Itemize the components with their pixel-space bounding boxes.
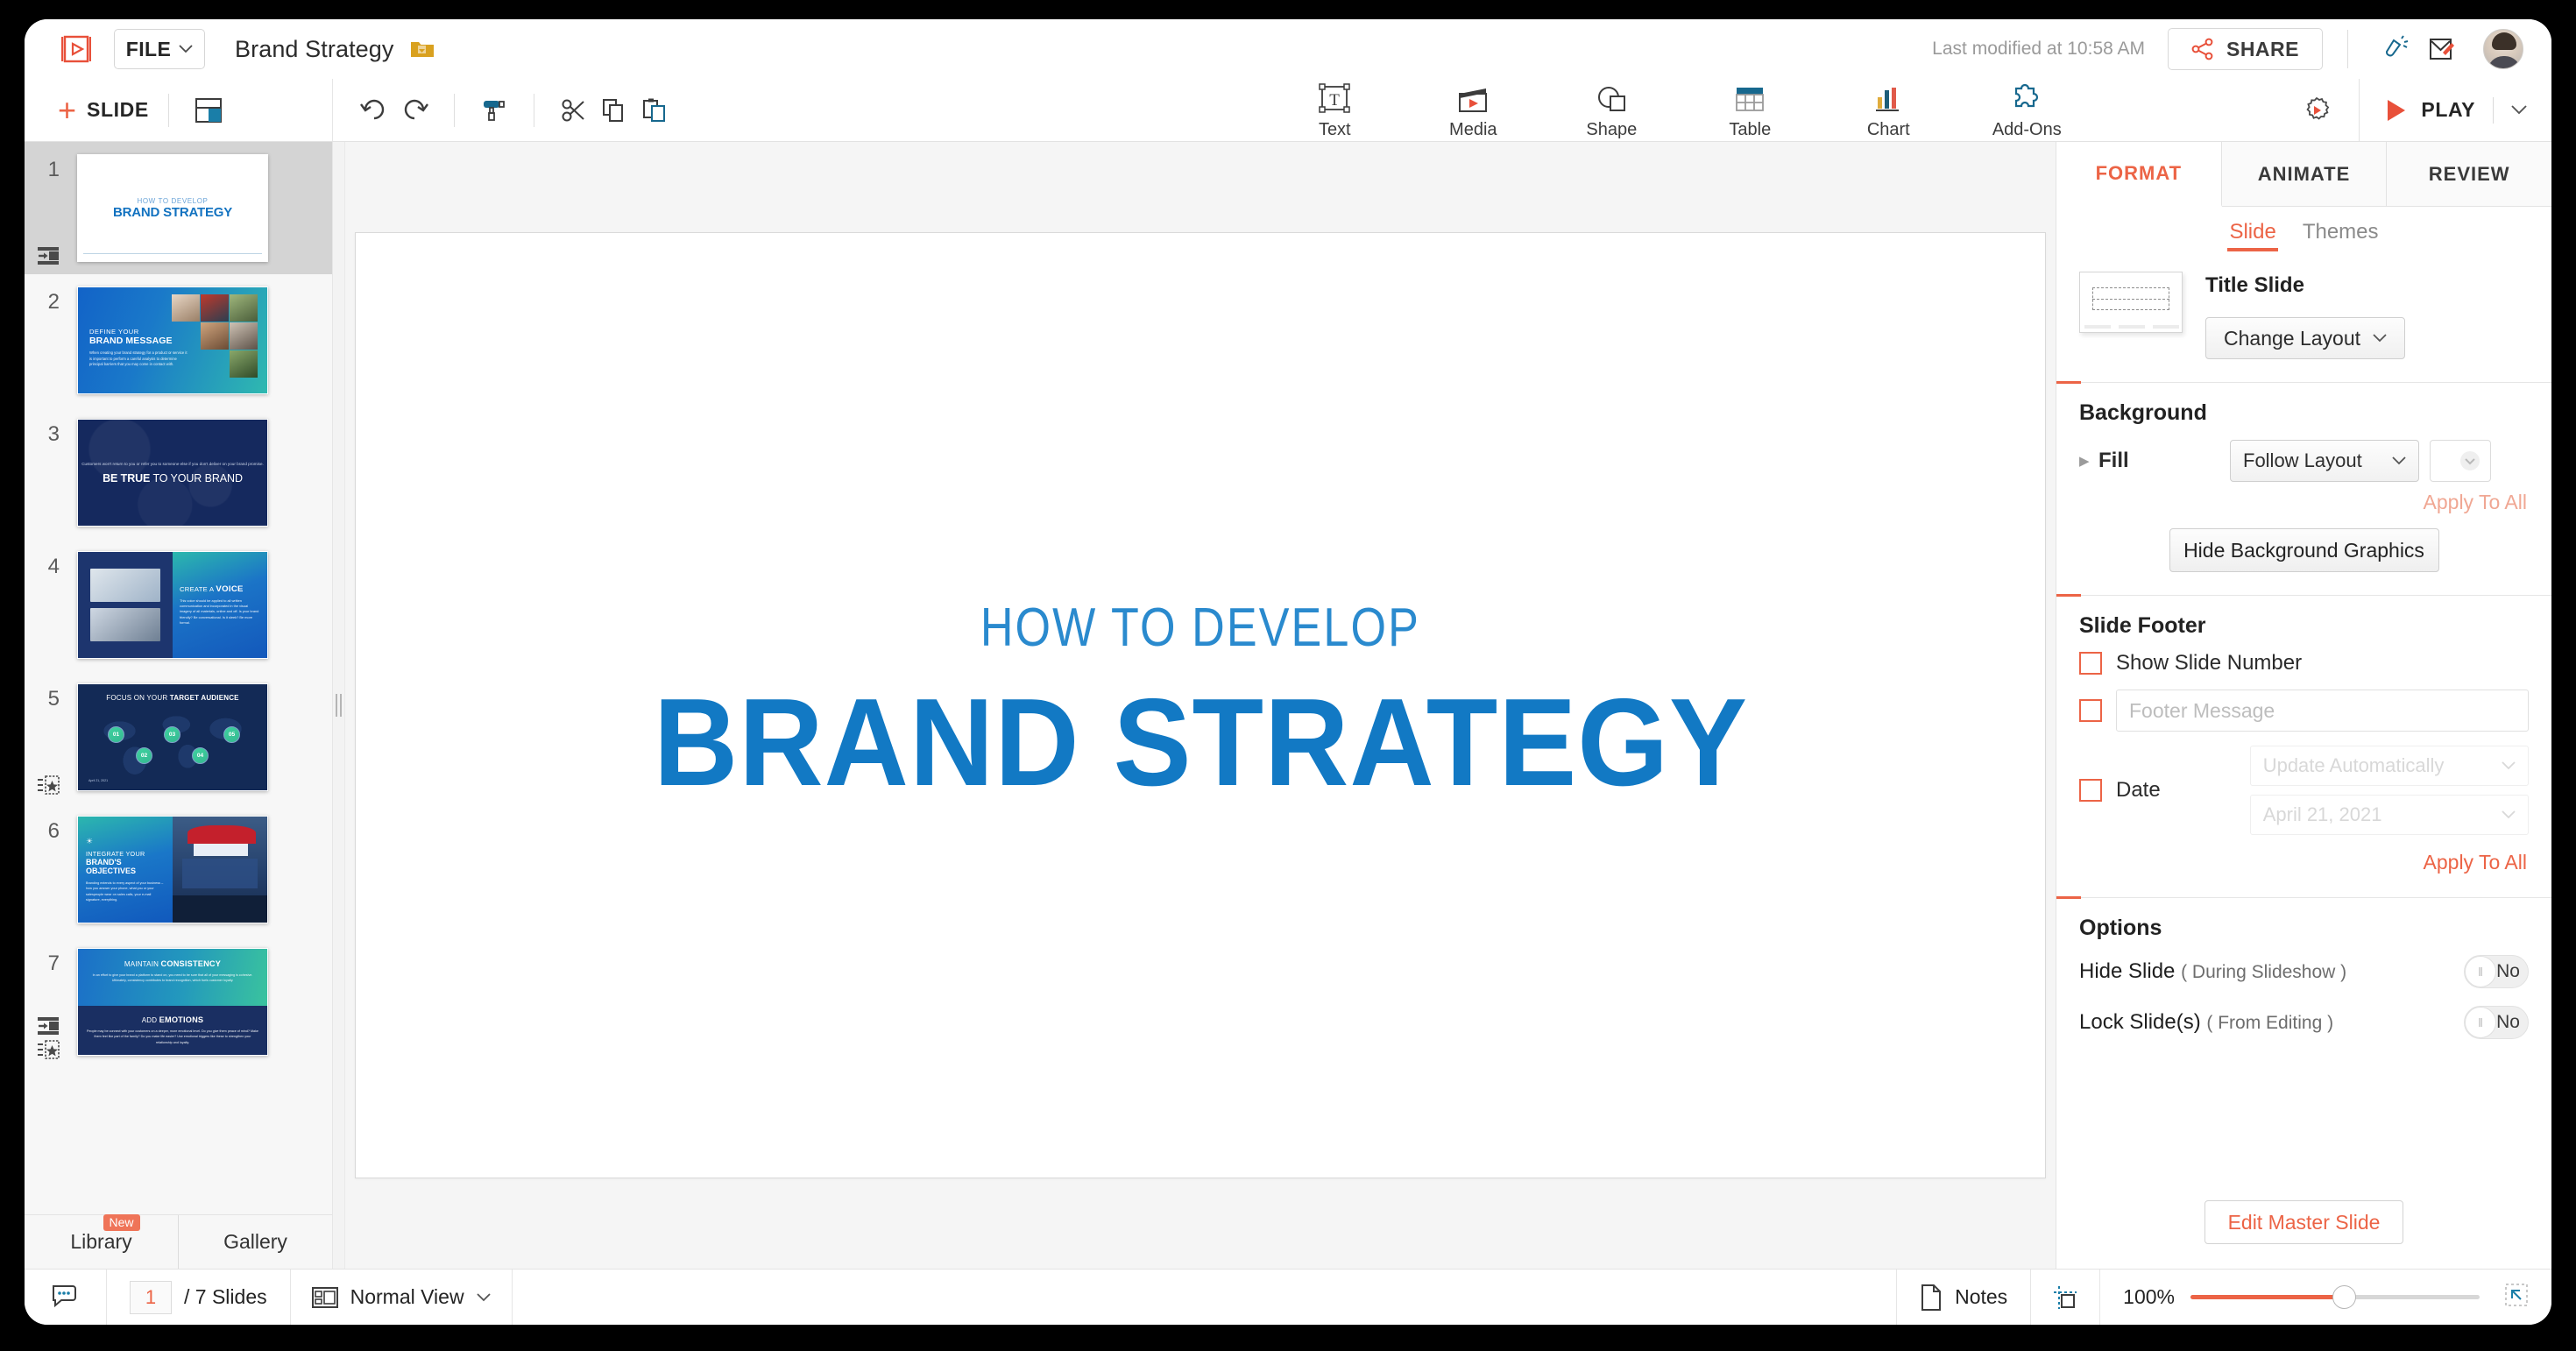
chevron-down-icon [2373,334,2387,343]
background-section-title: Background [2056,383,2551,431]
slide-number: 1 [25,154,65,182]
slide-thumbnail-6[interactable]: 6 ☀ INTEGRATE YOUR BRAND'S OBJECTIVES Br… [25,803,332,936]
toolbar-left-group: + SLIDE [25,79,333,141]
toolbar-divider-2 [454,94,455,127]
chevron-down-icon [2502,761,2516,770]
library-gallery-tabs: Library New Gallery [25,1214,332,1269]
preview-bottom-section: ADD EMOTIONS People may be connect with … [78,1006,267,1055]
slide-number: 2 [25,286,65,315]
slide-thumbnail-2[interactable]: 2 DEFINE YOUR BRAND MESSAGE [25,274,332,407]
preview-text: DEFINE YOUR BRAND MESSAGE When creating … [89,328,188,368]
preview-eyebrow: INTEGRATE YOUR [86,850,165,858]
tool-shape[interactable]: Shape [1569,81,1653,140]
chevron-down-icon [2392,456,2406,465]
footer-apply-to-all[interactable]: Apply To All [2056,842,2551,874]
tool-media[interactable]: Media [1431,81,1515,140]
text-box-icon: T [1318,81,1351,116]
scissors-icon[interactable] [554,90,594,131]
library-label: Library [70,1230,131,1254]
slide-thumbnail-4[interactable]: 4 CREATE A VOICE This voice should be ap… [25,539,332,671]
tab-format[interactable]: FORMAT [2056,142,2222,207]
zoom-control: 100% [2100,1270,2551,1325]
format-panel: FORMAT ANIMATE REVIEW Slide Themes [2056,142,2551,1269]
preview-title: BRAND'S OBJECTIVES [86,858,165,875]
slide-preview[interactable]: CREATE A VOICE This voice should be appl… [77,551,268,659]
presentation-logo-icon[interactable] [58,32,95,67]
expand-caret-icon[interactable]: ▶ [2079,453,2098,469]
library-tab[interactable]: Library New [25,1215,178,1269]
document-title[interactable]: Brand Strategy [235,36,394,63]
layout-name: Title Slide [2205,273,2405,298]
panel-subtabs: Slide Themes [2056,207,2551,263]
preview-body: Branding extends to every aspect of your… [86,881,165,902]
panel-content: Slide Themes Title Slide Change Layout [2056,207,2551,1269]
toggle-knob: ‖ [2465,1007,2496,1038]
toolbar-mid-group [333,79,1086,141]
slide-preview[interactable]: FOCUS ON YOUR TARGET AUDIENCE 01 02 03 0… [77,683,268,791]
comments-button[interactable] [25,1270,107,1325]
add-slide-button[interactable]: + SLIDE [58,95,149,126]
section-divider-2 [2056,595,2551,596]
chevron-down-icon [2502,810,2516,819]
lock-slide-row: Lock Slide(s) ( From Editing ) ‖ No [2056,997,2551,1048]
svg-text:T: T [1329,91,1340,110]
gallery-label: Gallery [223,1230,287,1254]
slide-thumbnails-list[interactable]: 1 HOW TO DEVELOP BRAND STRATEGY 2 [25,142,332,1214]
date-value: April 21, 2021 [2263,803,2382,826]
clapperboard-icon [1456,81,1490,116]
comment-icon [51,1284,81,1312]
preview-body: When creating your brand strategy for a … [89,350,188,368]
slide-title[interactable]: BRAND STRATEGY [653,671,1747,815]
preview-photos [78,552,173,658]
toolbar-divider-3 [534,94,534,127]
slide-preview[interactable]: MAINTAIN CONSISTENCY In an effort to giv… [77,948,268,1056]
slide-preview[interactable]: DEFINE YOUR BRAND MESSAGE When creating … [77,286,268,394]
add-slide-label: SLIDE [87,98,149,122]
zoom-value: 100% [2123,1285,2175,1309]
slide-number: 4 [25,551,65,579]
preview-top-section: MAINTAIN CONSISTENCY In an effort to giv… [78,949,267,1006]
chevron-down-icon [179,45,193,53]
preview-eyebrow: DEFINE YOUR [89,328,188,336]
tab-review[interactable]: REVIEW [2387,142,2551,206]
preview-title: FOCUS ON YOUR TARGET AUDIENCE [78,694,267,702]
preview-bottom-title: ADD EMOTIONS [86,1015,259,1024]
tool-media-label: Media [1449,120,1497,140]
notes-label: Notes [1955,1285,2007,1309]
play-button[interactable]: PLAY [2359,79,2551,141]
footer-message-checkbox[interactable] [2079,699,2102,722]
fill-label: Fill [2098,449,2230,473]
hide-slide-row: Hide Slide ( During Slideshow ) ‖ No [2056,946,2551,997]
panel-tabs: FORMAT ANIMATE REVIEW [2056,142,2551,207]
file-menu-label: FILE [126,38,171,61]
hide-slide-toggle[interactable]: ‖ No [2464,955,2529,988]
fill-row: ▶ Fill Follow Layout [2056,431,2551,482]
subtab-themes[interactable]: Themes [2303,220,2379,250]
main-toolbar: + SLIDE [25,79,2551,142]
undo-icon[interactable] [354,90,394,131]
shapes-icon [1595,81,1628,116]
panel-footer: Edit Master Slide [2056,1188,2551,1260]
page-indicator: 1 / 7 Slides [107,1270,291,1325]
lock-slide-label: Lock Slide(s) ( From Editing ) [2079,1010,2464,1035]
notes-page-icon [1920,1284,1943,1311]
show-slide-number-row: Show Slide Number [2056,644,2551,683]
preview-body: This voice should be applied to all writ… [180,598,260,626]
current-page-input[interactable]: 1 [130,1281,172,1314]
slide-preview[interactable]: Customers won't return to you or refer y… [77,419,268,527]
tool-addons[interactable]: Add-Ons [1985,81,2069,140]
lightbulb-icon: ☀ [86,837,165,846]
format-painter-icon[interactable] [474,90,514,131]
color-dropdown-icon [2459,449,2481,472]
layout-info: Title Slide Change Layout [2205,272,2405,359]
panel-splitter[interactable] [333,142,345,1269]
folder-move-icon[interactable] [410,37,435,61]
tool-text-label: Text [1319,120,1351,140]
zoom-slider-fill [2190,1295,2346,1299]
slide-number: 3 [25,419,65,447]
file-menu-button[interactable]: FILE [114,29,205,69]
notes-button[interactable]: Notes [1897,1270,2031,1325]
play-icon [2386,99,2407,122]
view-mode-selector[interactable]: Normal View [291,1270,513,1325]
footer-message-row: Footer Message [2056,683,2551,739]
change-layout-label: Change Layout [2224,327,2360,350]
slide-preview[interactable]: ☀ INTEGRATE YOUR BRAND'S OBJECTIVES Bran… [77,816,268,923]
tool-text[interactable]: T Text [1292,81,1376,140]
preview-text: ☀ INTEGRATE YOUR BRAND'S OBJECTIVES Bran… [78,817,173,923]
slide-subtitle[interactable]: HOW TO DEVELOP [980,597,1420,659]
hide-slide-note: ( During Slideshow ) [2181,962,2346,982]
show-slide-number-label: Show Slide Number [2116,651,2302,675]
gallery-tab[interactable]: Gallery [178,1215,332,1269]
new-badge: New [103,1214,140,1231]
layout-section: Title Slide Change Layout [2056,263,2551,359]
redo-icon[interactable] [394,90,435,131]
fit-to-screen-icon[interactable] [2504,1283,2529,1312]
fill-select[interactable]: Follow Layout [2230,440,2419,482]
slide-thumbnail-5[interactable]: 5 FOCUS ON YOUR TARGET AUDIENCE 01 02 03… [25,671,332,803]
subtab-slide[interactable]: Slide [2229,220,2275,250]
gear-play-icon[interactable] [2275,95,2359,125]
status-spacer [513,1270,1898,1325]
preview-step-05: 05 [223,726,240,743]
preview-rule [83,253,262,254]
puzzle-piece-icon [2010,81,2043,116]
preview-date: April 21, 2021 [88,779,108,782]
zoom-slider-handle[interactable] [2332,1285,2356,1309]
copy-icon[interactable] [594,90,634,131]
table-icon [1733,81,1766,116]
active-slide[interactable]: HOW TO DEVELOP BRAND STRATEGY [355,232,2046,1178]
lock-slide-value: No [2496,1012,2520,1033]
slide-canvas-area[interactable]: HOW TO DEVELOP BRAND STRATEGY [345,142,2056,1269]
preview-lead: Customers won't return to you or refer y… [81,461,264,467]
options-section-title: Options [2056,898,2551,946]
play-divider [2493,97,2494,124]
hide-slide-value: No [2496,961,2520,982]
layout-preview[interactable] [2079,272,2183,333]
footer-message-input[interactable]: Footer Message [2116,690,2529,732]
animation-icon[interactable] [37,1040,60,1059]
total-pages-label: / 7 Slides [184,1285,267,1309]
tool-addons-label: Add-Ons [1992,120,2062,140]
date-label: Date [2116,778,2161,803]
hide-background-graphics-button[interactable]: Hide Background Graphics [2169,528,2439,572]
fill-value: Follow Layout [2243,449,2362,472]
slide-badges [37,775,60,795]
tool-table-label: Table [1729,120,1771,140]
animation-icon[interactable] [37,775,60,795]
tool-chart-label: Chart [1867,120,1910,140]
show-slide-number-checkbox[interactable] [2079,652,2102,675]
bar-chart-icon [1872,81,1905,116]
lock-slide-toggle[interactable]: ‖ No [2464,1006,2529,1039]
preview-title: BRAND MESSAGE [89,336,188,346]
slide-thumbnail-1[interactable]: 1 HOW TO DEVELOP BRAND STRATEGY [25,142,332,274]
splitter-grip [336,694,343,717]
preview-subtitle: HOW TO DEVELOP [137,197,208,205]
preview-step-01: 01 [108,726,124,743]
preview-eyebrow: CREATE A VOICE [180,584,260,594]
edit-note-icon[interactable] [2418,29,2464,69]
date-value-select[interactable]: April 21, 2021 [2250,795,2529,835]
date-selects: Update Automatically April 21, 2021 [2250,746,2529,835]
toolbar-divider [168,94,169,127]
transition-icon[interactable] [37,246,60,265]
slide-badges [37,1016,60,1059]
status-bar: 1 / 7 Slides Normal View Notes 100% [25,1269,2551,1325]
tool-table[interactable]: Table [1708,81,1792,140]
date-row: Date Update Automatically April 21, 2021 [2056,739,2551,842]
chevron-down-icon [477,1293,491,1302]
share-button[interactable]: SHARE [2168,28,2323,70]
fill-color-swatch[interactable] [2430,440,2491,482]
tool-shape-label: Shape [1586,120,1637,140]
preview-photo [173,817,267,923]
preview-title: BE TRUE TO YOUR BRAND [103,472,243,485]
slide-thumbnail-3[interactable]: 3 Customers won't return to you or refer… [25,407,332,539]
normal-view-icon [312,1286,338,1309]
share-icon [2191,38,2214,60]
edit-master-slide-button[interactable]: Edit Master Slide [2204,1200,2404,1244]
slide-number: 7 [25,948,65,976]
plus-icon: + [58,95,76,126]
background-apply-to-all[interactable]: Apply To All [2056,482,2551,514]
tab-animate[interactable]: ANIMATE [2222,142,2388,206]
zoom-slider[interactable] [2190,1295,2480,1299]
slide-number: 5 [25,683,65,711]
user-avatar[interactable] [2483,29,2523,69]
app-body: 1 HOW TO DEVELOP BRAND STRATEGY 2 [25,142,2551,1269]
app-header: FILE Brand Strategy Last modified at 10:… [25,19,2551,79]
lock-slide-note: ( From Editing ) [2206,1013,2333,1033]
play-label: PLAY [2421,98,2475,122]
paste-icon[interactable] [634,90,675,131]
preview-top-title: MAINTAIN CONSISTENCY [87,959,258,968]
preview-step-03: 03 [164,726,180,743]
last-modified-label: Last modified at 10:58 AM [1932,39,2145,60]
section-divider-3 [2056,897,2551,898]
slide-badges [37,246,60,265]
chevron-down-icon[interactable] [2511,105,2527,115]
guides-button[interactable] [2031,1270,2100,1325]
header-divider [2347,30,2348,68]
megaphone-icon[interactable] [2373,29,2418,69]
preview-step-04: 04 [192,747,209,764]
slide-footer-section-title: Slide Footer [2056,596,2551,644]
insert-tools-group: T Text Media Shape Table [1086,79,2275,141]
preview-step-02: 02 [136,747,152,764]
share-label: SHARE [2226,38,2299,61]
date-mode-value: Update Automatically [2263,754,2445,777]
guides-icon [2052,1284,2078,1311]
preview-bottom-body: People may be connect with your customer… [86,1029,259,1044]
preview-title: BRAND STRATEGY [113,205,232,220]
slide-layout-icon[interactable] [188,90,229,131]
preview-title-rest: TO YOUR BRAND [150,472,243,485]
slide-thumbnails-panel: 1 HOW TO DEVELOP BRAND STRATEGY 2 [25,142,333,1269]
toggle-knob: ‖ [2465,956,2496,987]
preview-text: CREATE A VOICE This voice should be appl… [173,552,267,658]
preview-title-strong: BE TRUE [103,472,150,485]
slide-preview[interactable]: HOW TO DEVELOP BRAND STRATEGY [77,154,268,262]
view-mode-label: Normal View [350,1285,464,1309]
date-checkbox[interactable] [2079,779,2102,802]
section-divider [2056,382,2551,383]
date-mode-select[interactable]: Update Automatically [2250,746,2529,786]
slide-thumbnail-7[interactable]: 7 MAINTAIN CONSISTENCY In an effort to g… [25,936,332,1068]
preview-top-body: In an effort to give your brand a platfo… [87,973,258,983]
app-window: FILE Brand Strategy Last modified at 10:… [25,19,2551,1325]
slide-number: 6 [25,816,65,844]
tool-chart[interactable]: Chart [1846,81,1930,140]
change-layout-button[interactable]: Change Layout [2205,317,2405,359]
transition-icon[interactable] [37,1016,60,1036]
hide-slide-label: Hide Slide ( During Slideshow ) [2079,959,2464,984]
toolbar-right-group: PLAY [2275,79,2551,141]
